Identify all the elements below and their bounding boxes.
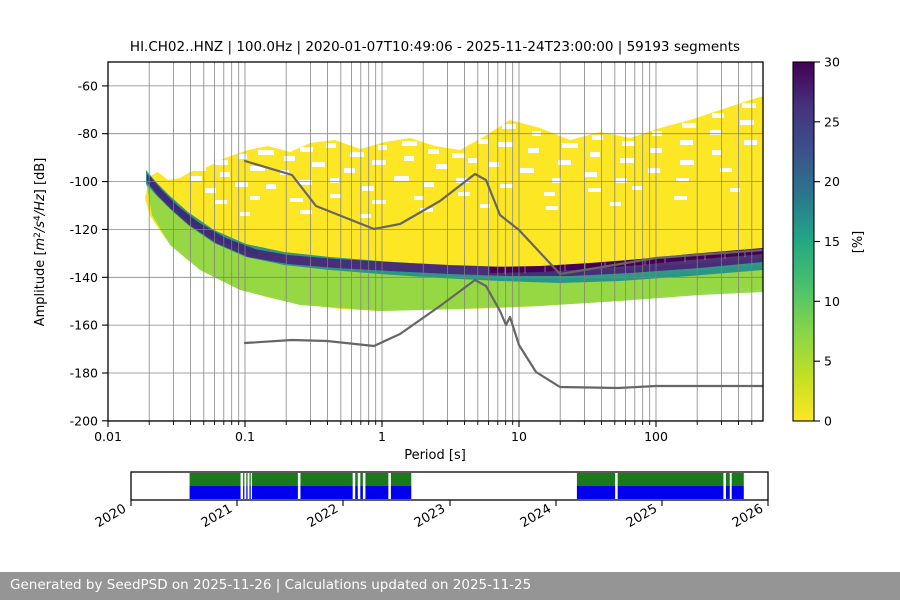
timeline-segment-blue [300, 486, 352, 499]
colorbar-tick-labels: 0 5 10 15 20 25 30 [824, 55, 840, 429]
svg-text:-60: -60 [78, 78, 98, 93]
timeline-segment-blue [252, 486, 298, 499]
svg-text:5: 5 [824, 354, 832, 369]
colorbar-label: [%] [851, 231, 866, 254]
svg-text:2023: 2023 [412, 501, 448, 531]
y-tick-labels: -60 -80 -100 -120 -140 -160 -180 -200 [70, 78, 98, 428]
svg-text:2021: 2021 [199, 501, 235, 531]
psd-axes: -60 -80 -100 -120 -140 -160 -180 -200 Am… [33, 62, 763, 463]
availability-timeline: 2020 2021 2022 2023 2024 2025 2026 [93, 472, 768, 531]
svg-text:0.1: 0.1 [235, 429, 255, 444]
svg-text:-100: -100 [70, 174, 98, 189]
svg-text:2025: 2025 [624, 501, 660, 531]
timeline-segment-blue [243, 486, 244, 499]
svg-text:2026: 2026 [730, 501, 766, 531]
timeline-segment-green [190, 473, 241, 486]
x-axis-label: Period [s] [404, 448, 466, 463]
svg-text:-180: -180 [70, 366, 98, 381]
timeline-segment-blue [365, 486, 388, 499]
timeline-segment-blue [577, 486, 615, 499]
svg-text:10: 10 [824, 294, 840, 309]
timeline-tick-labels: 2020 2021 2022 2023 2024 2025 2026 [93, 501, 766, 531]
page-title: HI.CH02..HNZ | 100.0Hz | 2020-01-07T10:4… [130, 39, 740, 55]
timeline-segment-blue [249, 486, 250, 499]
timeline-segment-green [246, 473, 247, 486]
timeline-segment-green [252, 473, 298, 486]
timeline-segment-blue [732, 486, 744, 499]
timeline-segment-blue [355, 486, 358, 499]
svg-text:100: 100 [644, 429, 668, 444]
svg-text:-200: -200 [70, 413, 98, 428]
svg-text:1: 1 [378, 429, 386, 444]
timeline-segment-blue [246, 486, 247, 499]
timeline-segment-green [365, 473, 388, 486]
timeline-segment-blue [391, 486, 411, 499]
svg-text:30: 30 [824, 55, 840, 70]
colorbar: 0 5 10 15 20 25 30 [%] [793, 55, 866, 429]
timeline-segment-green [732, 473, 744, 486]
svg-text:15: 15 [824, 234, 840, 249]
footer-text: Generated by SeedPSD on 2025-11-26 | Cal… [10, 577, 531, 593]
svg-text:-140: -140 [70, 270, 98, 285]
timeline-segment-green [249, 473, 250, 486]
svg-text:0.01: 0.01 [94, 429, 122, 444]
timeline-segment-green [243, 473, 244, 486]
timeline-segment-blue [726, 486, 730, 499]
svg-text:20: 20 [824, 174, 840, 189]
y-axis-label: Amplitude [m2/s4/Hz] [dB] [33, 158, 48, 327]
timeline-segment-green [355, 473, 358, 486]
svg-text:-120: -120 [70, 222, 98, 237]
svg-text:2020: 2020 [93, 501, 129, 531]
x-tick-labels: 0.01 0.1 1 10 100 [94, 429, 668, 444]
svg-text:2022: 2022 [305, 501, 341, 531]
psd-probability-figure: HI.CH02..HNZ | 100.0Hz | 2020-01-07T10:4… [0, 0, 900, 600]
y-axis [102, 86, 108, 421]
svg-text:-160: -160 [70, 318, 98, 333]
timeline-segment-blue [360, 486, 363, 499]
footer-bar: Generated by SeedPSD on 2025-11-26 | Cal… [0, 572, 900, 600]
timeline-segment-green [726, 473, 730, 486]
colorbar-gradient [793, 62, 814, 421]
timeline-segment-green [618, 473, 724, 486]
svg-text:2024: 2024 [518, 501, 554, 531]
svg-text:0: 0 [824, 414, 832, 429]
timeline-segment-blue [618, 486, 724, 499]
svg-text:-80: -80 [78, 126, 98, 141]
svg-text:25: 25 [824, 114, 840, 129]
timeline-segment-green [360, 473, 363, 486]
timeline-segment-blue [190, 486, 241, 499]
timeline-segment-green [577, 473, 615, 486]
timeline-segment-green [391, 473, 411, 486]
colorbar-ticks [814, 62, 820, 421]
svg-text:Amplitude [m2/s4/Hz] [dB]: Amplitude [m2/s4/Hz] [dB] [33, 158, 48, 327]
svg-text:10: 10 [511, 429, 527, 444]
timeline-segment-green [300, 473, 352, 486]
